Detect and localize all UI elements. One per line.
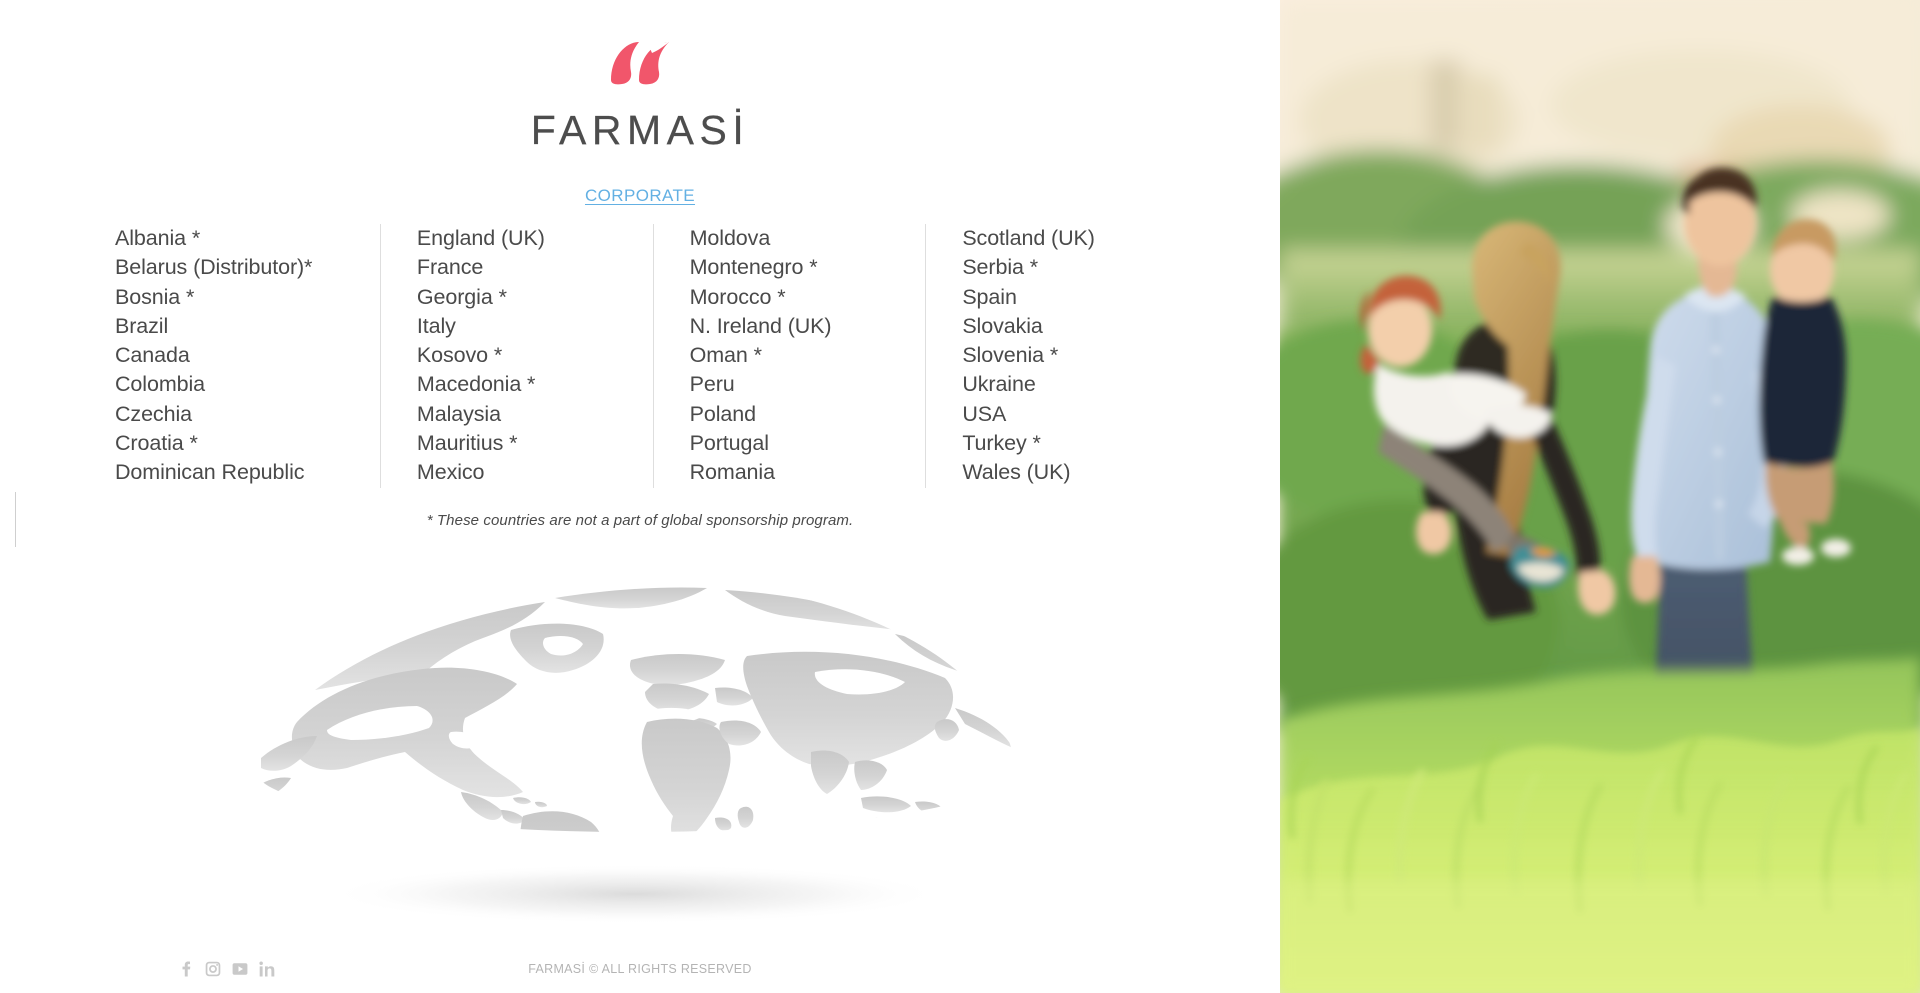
- copyright-text: FARMASİ © ALL RIGHTS RESERVED: [0, 962, 1280, 976]
- globe-illustration: [255, 572, 1015, 952]
- country-link[interactable]: Albania *: [115, 224, 380, 253]
- country-link[interactable]: Dominican Republic: [115, 458, 380, 487]
- country-column-1: Albania * Belarus (Distributor)* Bosnia …: [108, 224, 380, 488]
- country-link[interactable]: Slovenia *: [962, 341, 1198, 370]
- farmasi-wordmark: FARMASİ: [509, 108, 771, 154]
- country-link[interactable]: Moldova: [690, 224, 926, 253]
- country-link[interactable]: England (UK): [417, 224, 653, 253]
- flame-logo-icon: [609, 40, 671, 86]
- country-link[interactable]: Wales (UK): [962, 458, 1198, 487]
- country-link[interactable]: Colombia: [115, 370, 380, 399]
- country-column-2: England (UK) France Georgia * Italy Koso…: [380, 224, 653, 488]
- left-content-panel: FARMASİ CORPORATE Albania * Belarus (Dis…: [0, 0, 1280, 993]
- country-link[interactable]: Mexico: [417, 458, 653, 487]
- world-map-globe: [255, 572, 1015, 952]
- country-link[interactable]: Portugal: [690, 429, 926, 458]
- country-link[interactable]: Bosnia *: [115, 283, 380, 312]
- country-link[interactable]: Peru: [690, 370, 926, 399]
- country-link[interactable]: Georgia *: [417, 283, 653, 312]
- country-column-3: Moldova Montenegro * Morocco * N. Irelan…: [653, 224, 926, 488]
- country-link[interactable]: Italy: [417, 312, 653, 341]
- country-link[interactable]: France: [417, 253, 653, 282]
- country-link[interactable]: Romania: [690, 458, 926, 487]
- country-list: Albania * Belarus (Distributor)* Bosnia …: [108, 224, 1198, 488]
- country-link[interactable]: Croatia *: [115, 429, 380, 458]
- country-link[interactable]: Kosovo *: [417, 341, 653, 370]
- corporate-link-wrapper: CORPORATE: [0, 186, 1280, 206]
- country-link[interactable]: USA: [962, 400, 1198, 429]
- country-link[interactable]: Malaysia: [417, 400, 653, 429]
- country-link[interactable]: Ukraine: [962, 370, 1198, 399]
- country-link[interactable]: Morocco *: [690, 283, 926, 312]
- country-link[interactable]: Mauritius *: [417, 429, 653, 458]
- page-footer: FARMASİ © ALL RIGHTS RESERVED: [0, 945, 1280, 985]
- brand-logo[interactable]: FARMASİ: [0, 40, 1280, 154]
- country-link[interactable]: Czechia: [115, 400, 380, 429]
- country-link[interactable]: N. Ireland (UK): [690, 312, 926, 341]
- country-link[interactable]: Spain: [962, 283, 1198, 312]
- country-link[interactable]: Scotland (UK): [962, 224, 1198, 253]
- country-link[interactable]: Montenegro *: [690, 253, 926, 282]
- country-link[interactable]: Belarus (Distributor)*: [115, 253, 380, 282]
- country-link[interactable]: Oman *: [690, 341, 926, 370]
- corporate-link[interactable]: CORPORATE: [585, 186, 695, 205]
- country-link[interactable]: Canada: [115, 341, 380, 370]
- landing-page: FARMASİ CORPORATE Albania * Belarus (Dis…: [0, 0, 1920, 993]
- country-link[interactable]: Slovakia: [962, 312, 1198, 341]
- family-in-field-photo: [1280, 0, 1920, 993]
- country-link[interactable]: Serbia *: [962, 253, 1198, 282]
- hero-photo-illustration: [1280, 0, 1920, 993]
- country-link[interactable]: Poland: [690, 400, 926, 429]
- svg-text:FARMASİ: FARMASİ: [531, 108, 749, 153]
- country-column-4: Scotland (UK) Serbia * Spain Slovakia Sl…: [925, 224, 1198, 488]
- country-link[interactable]: Brazil: [115, 312, 380, 341]
- country-link[interactable]: Turkey *: [962, 429, 1198, 458]
- country-link[interactable]: Macedonia *: [417, 370, 653, 399]
- sponsorship-footnote: * These countries are not a part of glob…: [0, 512, 1280, 529]
